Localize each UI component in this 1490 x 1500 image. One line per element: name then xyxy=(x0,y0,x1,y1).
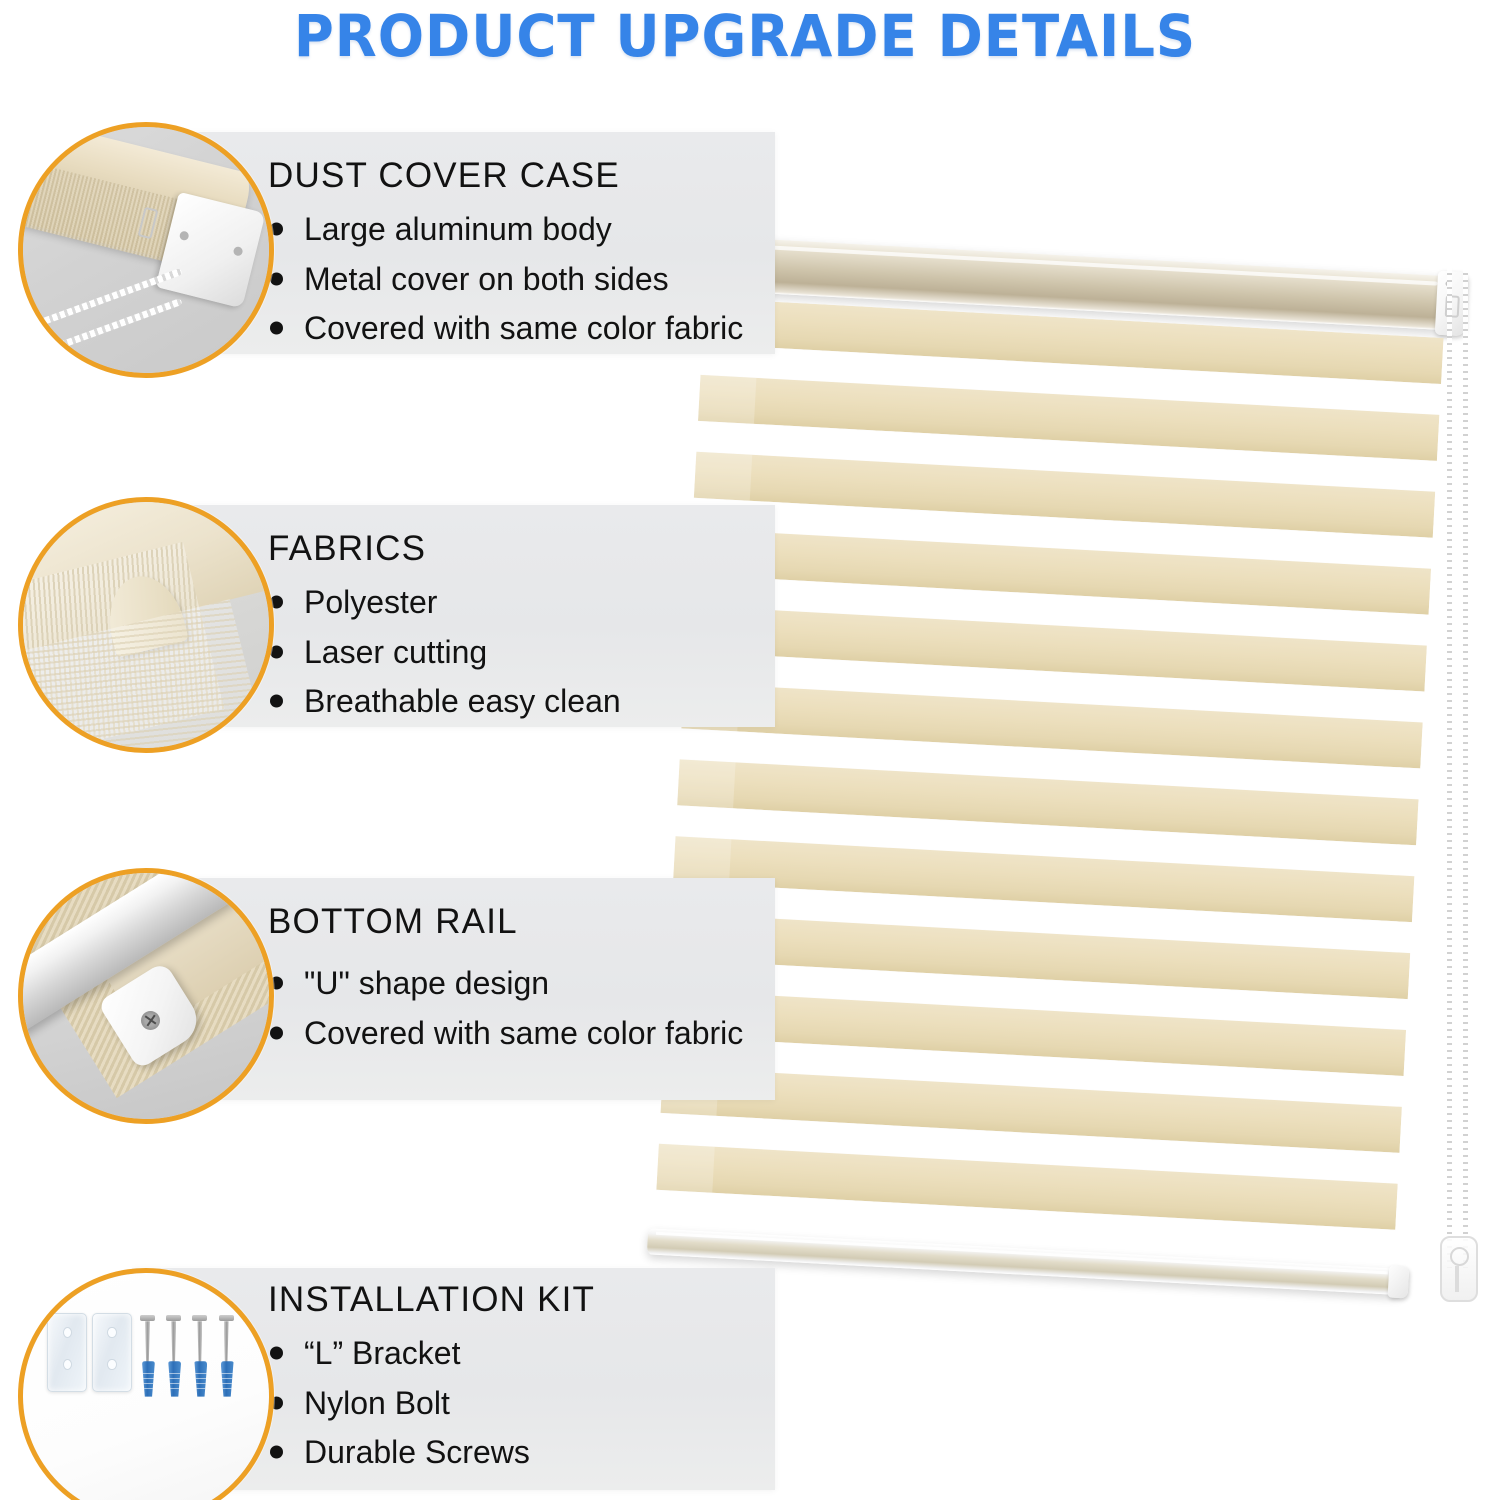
infographic-canvas: PRODUCT UPGRADE DETAILS xyxy=(0,0,1490,1500)
screw-head xyxy=(140,1315,155,1321)
hardware-group xyxy=(45,1310,247,1399)
bullet-text: Covered with same color fabric xyxy=(304,1015,743,1051)
bullet-text: “L” Bracket xyxy=(304,1335,460,1371)
photo-crop xyxy=(23,127,269,373)
photo-crop xyxy=(23,1273,269,1500)
bullet-icon xyxy=(270,1026,283,1039)
nylon-bolt-anchor-icon xyxy=(168,1361,181,1396)
stripe-edge-shade xyxy=(677,759,735,808)
stripe-edge-shade xyxy=(656,1144,714,1193)
photo-crop xyxy=(23,873,269,1119)
feature-title: FABRICS xyxy=(268,529,426,569)
feature-bullet-list: Polyester Laser cutting Breathable easy … xyxy=(268,585,621,734)
bullet-icon xyxy=(270,322,283,335)
list-item: Laser cutting xyxy=(268,635,621,670)
list-item: "U" shape design xyxy=(268,966,743,1001)
screw-icon xyxy=(141,1011,160,1030)
feature-title: BOTTOM RAIL xyxy=(268,902,518,942)
bottom-rail-photo xyxy=(18,868,274,1124)
bullet-text: Metal cover on both sides xyxy=(304,261,669,297)
bottom-rail-end-cap xyxy=(1388,1265,1410,1298)
list-item: Durable Screws xyxy=(268,1435,530,1470)
fabrics-photo xyxy=(18,497,274,753)
bullet-text: Durable Screws xyxy=(304,1434,530,1470)
bullet-icon xyxy=(270,272,283,285)
dust-cover-case-photo xyxy=(18,122,274,378)
stripe-edge-shade xyxy=(698,375,756,424)
bullet-text: Nylon Bolt xyxy=(304,1385,450,1421)
stripe-edge-shade xyxy=(694,452,752,501)
screw-head xyxy=(166,1315,181,1321)
feature-bullet-list: “L” Bracket Nylon Bolt Durable Screws xyxy=(268,1336,530,1485)
bullet-text: Breathable easy clean xyxy=(304,683,621,719)
feature-bullet-list: "U" shape design Covered with same color… xyxy=(268,966,743,1065)
product-image-roller-blind xyxy=(649,236,1467,1326)
list-item: Large aluminum body xyxy=(268,212,743,247)
list-item: Polyester xyxy=(268,585,621,620)
list-item: Covered with same color fabric xyxy=(268,1016,743,1051)
bead-chain-strand[interactable] xyxy=(1463,268,1468,1268)
installation-kit-photo xyxy=(18,1268,274,1500)
feature-title: DUST COVER CASE xyxy=(268,156,620,196)
l-bracket-icon xyxy=(92,1313,132,1391)
bullet-icon xyxy=(270,1446,283,1459)
l-bracket-icon xyxy=(47,1313,87,1391)
nylon-bolt-anchor-icon xyxy=(221,1361,234,1396)
list-item: Nylon Bolt xyxy=(268,1386,530,1421)
bullet-text: Large aluminum body xyxy=(304,211,612,247)
bullet-icon xyxy=(270,1347,283,1360)
headrail-highlight xyxy=(728,243,1438,285)
bullet-text: Covered with same color fabric xyxy=(304,310,743,346)
photo-crop xyxy=(23,502,269,748)
zebra-fabric-panel xyxy=(654,298,1443,1267)
screw-head xyxy=(192,1315,207,1321)
list-item: Covered with same color fabric xyxy=(268,311,743,346)
bullet-icon xyxy=(270,695,283,708)
bullet-text: Polyester xyxy=(304,584,437,620)
bullet-text: "U" shape design xyxy=(304,965,549,1001)
nylon-bolt-anchor-icon xyxy=(194,1361,207,1396)
list-item: Breathable easy clean xyxy=(268,684,621,719)
feature-bullet-list: Large aluminum body Metal cover on both … xyxy=(268,212,743,361)
screw-head xyxy=(219,1315,234,1321)
bullet-text: Laser cutting xyxy=(304,634,487,670)
page-title: PRODUCT UPGRADE DETAILS xyxy=(45,2,1446,70)
nylon-bolt-anchor-icon xyxy=(142,1361,155,1396)
feature-title: INSTALLATION KIT xyxy=(268,1280,595,1320)
list-item: “L” Bracket xyxy=(268,1336,530,1371)
chain-connector[interactable] xyxy=(1440,1236,1478,1302)
bead-chain-strand[interactable] xyxy=(1447,268,1452,1268)
list-item: Metal cover on both sides xyxy=(268,262,743,297)
